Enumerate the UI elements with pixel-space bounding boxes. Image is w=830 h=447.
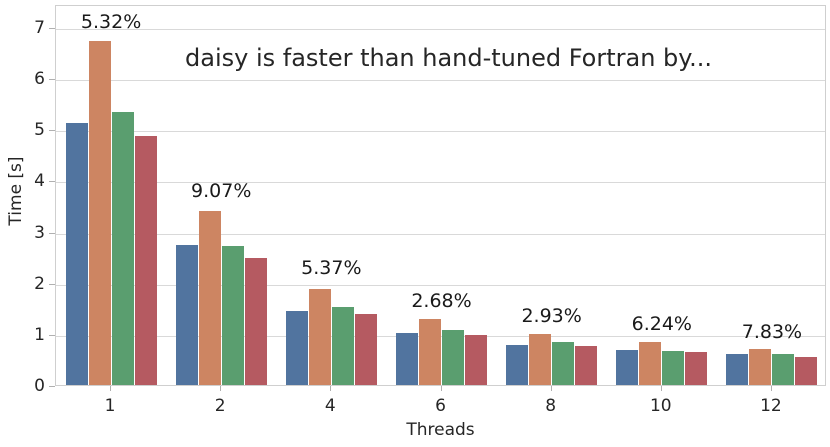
y-tick-mark bbox=[49, 386, 55, 387]
bar-value-annotation: 2.93% bbox=[521, 305, 581, 327]
y-tick-label: 3 bbox=[0, 223, 45, 243]
y-tick-label: 4 bbox=[0, 171, 45, 191]
y-tick-mark bbox=[49, 130, 55, 131]
bar-chart-figure: Time [s] 5.32%9.07%5.37%2.68%2.93%6.24%7… bbox=[0, 0, 830, 447]
x-tick-label: 10 bbox=[631, 396, 691, 416]
x-tick-label: 8 bbox=[521, 396, 581, 416]
y-tick-label: 0 bbox=[0, 376, 45, 396]
y-tick-label: 7 bbox=[0, 18, 45, 38]
y-tick-mark bbox=[49, 79, 55, 80]
bar-value-annotation: 2.68% bbox=[411, 290, 471, 312]
y-tick-mark bbox=[49, 284, 55, 285]
bar-value-annotation: 5.32% bbox=[81, 11, 141, 33]
x-axis-label: Threads bbox=[55, 420, 826, 440]
x-tick-mark bbox=[551, 386, 552, 391]
x-tick-mark bbox=[441, 386, 442, 391]
y-tick-label: 5 bbox=[0, 120, 45, 140]
x-tick-label: 6 bbox=[411, 396, 471, 416]
y-tick-label: 1 bbox=[0, 325, 45, 345]
bar-value-annotation: 9.07% bbox=[191, 180, 251, 202]
x-tick-mark bbox=[110, 386, 111, 391]
chart-title: daisy is faster than hand-tuned Fortran … bbox=[185, 44, 712, 72]
y-tick-mark bbox=[49, 181, 55, 182]
x-tick-label: 1 bbox=[80, 396, 140, 416]
x-tick-label: 12 bbox=[741, 396, 801, 416]
y-tick-label: 2 bbox=[0, 274, 45, 294]
x-tick-label: 4 bbox=[300, 396, 360, 416]
x-tick-mark bbox=[330, 386, 331, 391]
x-tick-mark bbox=[771, 386, 772, 391]
y-tick-mark bbox=[49, 233, 55, 234]
bar-value-annotation: 7.83% bbox=[742, 321, 802, 343]
bar-value-annotation: 5.37% bbox=[301, 257, 361, 279]
bar-value-annotation: 6.24% bbox=[632, 313, 692, 335]
y-tick-label: 6 bbox=[0, 69, 45, 89]
x-tick-mark bbox=[220, 386, 221, 391]
y-tick-mark bbox=[49, 335, 55, 336]
x-tick-label: 2 bbox=[190, 396, 250, 416]
y-tick-mark bbox=[49, 28, 55, 29]
x-tick-mark bbox=[661, 386, 662, 391]
